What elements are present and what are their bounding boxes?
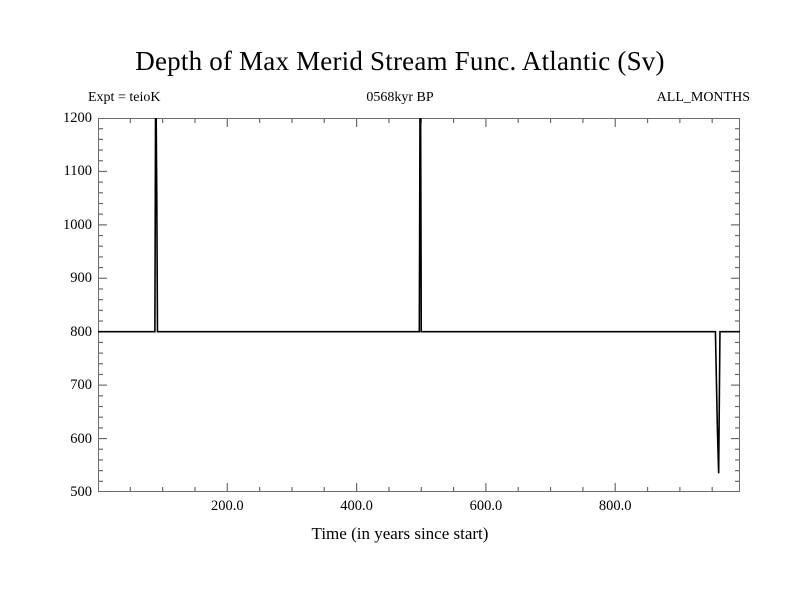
chart-title: Depth of Max Merid Stream Func. Atlantic… <box>0 46 800 77</box>
data-series-line <box>98 118 740 473</box>
y-tick-label: 900 <box>34 271 92 286</box>
x-tick-label: 400.0 <box>312 499 402 514</box>
y-tick-label: 800 <box>34 325 92 340</box>
x-axis-title: Time (in years since start) <box>0 524 800 544</box>
plot-canvas <box>98 118 740 492</box>
y-tick-label: 1200 <box>34 111 92 126</box>
y-tick-label: 600 <box>34 432 92 447</box>
y-tick-label: 700 <box>34 378 92 393</box>
x-tick-label: 800.0 <box>570 499 660 514</box>
x-tick-label: 600.0 <box>441 499 531 514</box>
y-tick-label: 500 <box>34 485 92 500</box>
chart-figure: Depth of Max Merid Stream Func. Atlantic… <box>0 0 800 600</box>
subtitle-months: ALL_MONTHS <box>610 90 750 106</box>
x-tick-label: 200.0 <box>182 499 272 514</box>
y-tick-label: 1000 <box>34 218 92 233</box>
y-axis-tick-labels: 500600700800900100011001200 <box>30 0 92 600</box>
y-tick-label: 1100 <box>34 164 92 179</box>
